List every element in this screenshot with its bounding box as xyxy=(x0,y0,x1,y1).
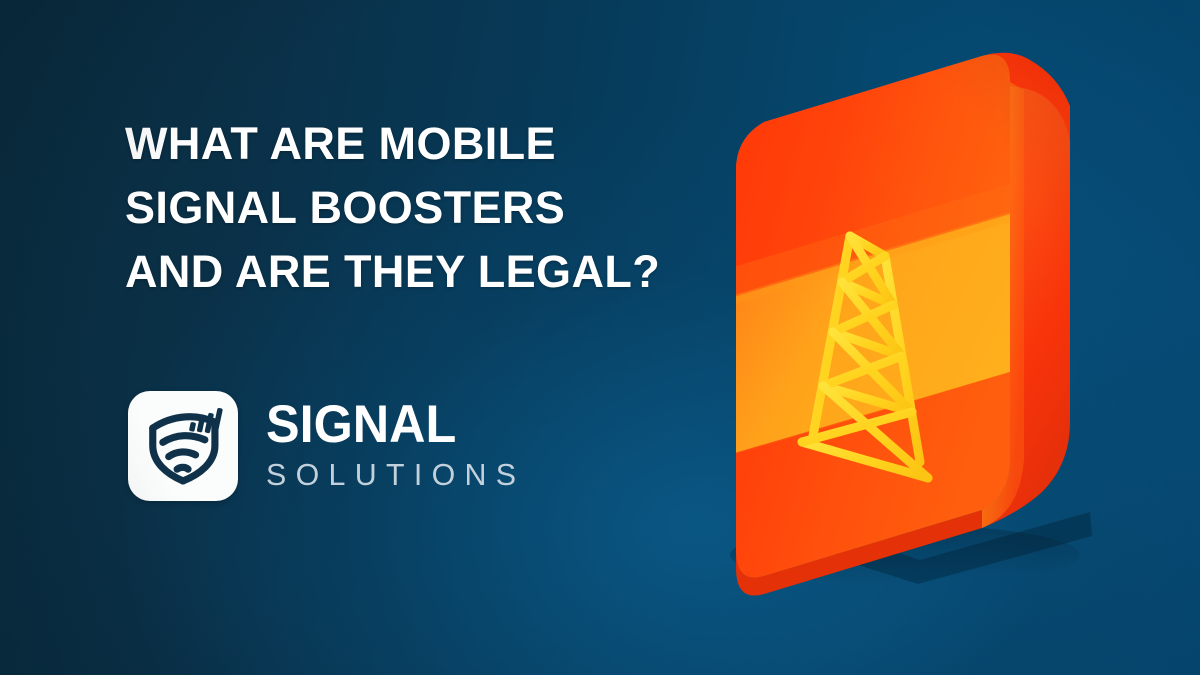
brand-wordmark: SIGNAL SOLUTIONS xyxy=(266,400,531,492)
shield-signal-icon xyxy=(141,402,225,491)
brand-logo[interactable]: SIGNAL SOLUTIONS xyxy=(128,391,531,501)
isometric-cell-tower-illustration xyxy=(690,60,1160,620)
brand-name-secondary: SOLUTIONS xyxy=(266,458,525,492)
logo-mark-tile xyxy=(128,391,238,501)
hero-banner: WHAT ARE MOBILE SIGNAL BOOSTERS AND ARE … xyxy=(0,0,1200,675)
brand-name-primary: SIGNAL xyxy=(266,400,517,451)
headline-line-3: AND ARE THEY LEGAL? xyxy=(125,240,725,304)
headline-line-2: SIGNAL BOOSTERS xyxy=(125,176,725,240)
page-title: WHAT ARE MOBILE SIGNAL BOOSTERS AND ARE … xyxy=(125,112,725,304)
headline-line-1: WHAT ARE MOBILE xyxy=(125,112,725,176)
